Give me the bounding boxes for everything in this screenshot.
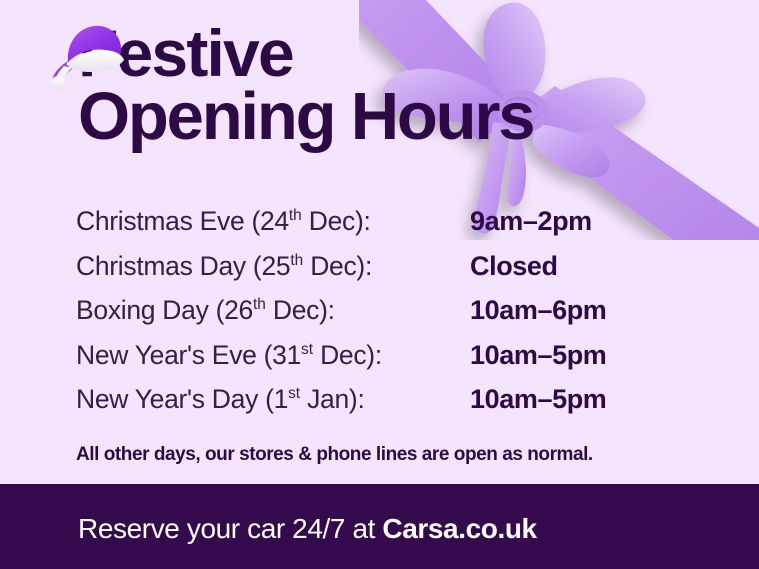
hours-row: New Year's Eve (31st Dec): 10am–5pm: [76, 340, 696, 385]
time-value: 10am–6pm: [470, 295, 606, 326]
footer-bar: Reserve your car 24/7 at Carsa.co.uk: [0, 484, 759, 569]
day-label-text: Boxing Day (26: [76, 295, 253, 325]
day-label-suffix: Dec):: [302, 206, 371, 236]
hours-row: Christmas Day (25th Dec): Closed: [76, 251, 696, 296]
hours-row: Christmas Eve (24th Dec): 9am–2pm: [76, 206, 696, 251]
day-label: Christmas Day (25th Dec):: [76, 251, 470, 282]
footer-text-prefix: Reserve your car 24/7 at: [78, 513, 382, 544]
page-title-line2: Opening Hours: [78, 85, 678, 149]
day-ordinal: th: [289, 207, 302, 224]
time-value: 9am–2pm: [470, 206, 592, 237]
hours-row: New Year's Day (1st Jan): 10am–5pm: [76, 384, 696, 429]
brand-name: Carsa.co.uk: [382, 513, 536, 544]
footnote-text: All other days, our stores & phone lines…: [76, 444, 593, 466]
day-label-suffix: Dec):: [313, 340, 382, 370]
festive-opening-hours-poster: Festive Opening Hours Christmas Eve (24t…: [0, 0, 759, 569]
day-ordinal: st: [288, 385, 300, 402]
footer-text: Reserve your car 24/7 at Carsa.co.uk: [78, 513, 537, 545]
day-label-text: New Year's Day (1: [76, 384, 288, 414]
time-value: 10am–5pm: [470, 384, 606, 415]
day-ordinal: st: [301, 341, 313, 358]
time-value: Closed: [470, 251, 558, 282]
day-label: Christmas Eve (24th Dec):: [76, 206, 470, 237]
time-value: 10am–5pm: [470, 340, 606, 371]
day-label-suffix: Jan):: [300, 384, 364, 414]
santa-hat-icon: [48, 18, 126, 92]
day-label-suffix: Dec):: [266, 295, 335, 325]
day-label-text: Christmas Day (25: [76, 251, 290, 281]
page-title-line1: Festive: [78, 22, 678, 85]
day-label-suffix: Dec):: [303, 251, 372, 281]
day-ordinal: th: [253, 296, 266, 313]
hours-row: Boxing Day (26th Dec): 10am–6pm: [76, 295, 696, 340]
day-label-text: Christmas Eve (24: [76, 206, 289, 236]
opening-hours-list: Christmas Eve (24th Dec): 9am–2pm Christ…: [76, 206, 696, 429]
day-ordinal: th: [290, 252, 303, 269]
day-label: New Year's Eve (31st Dec):: [76, 340, 470, 371]
day-label-text: New Year's Eve (31: [76, 340, 301, 370]
page-title: Festive Opening Hours: [78, 22, 678, 150]
day-label: Boxing Day (26th Dec):: [76, 295, 470, 326]
day-label: New Year's Day (1st Jan):: [76, 384, 470, 415]
